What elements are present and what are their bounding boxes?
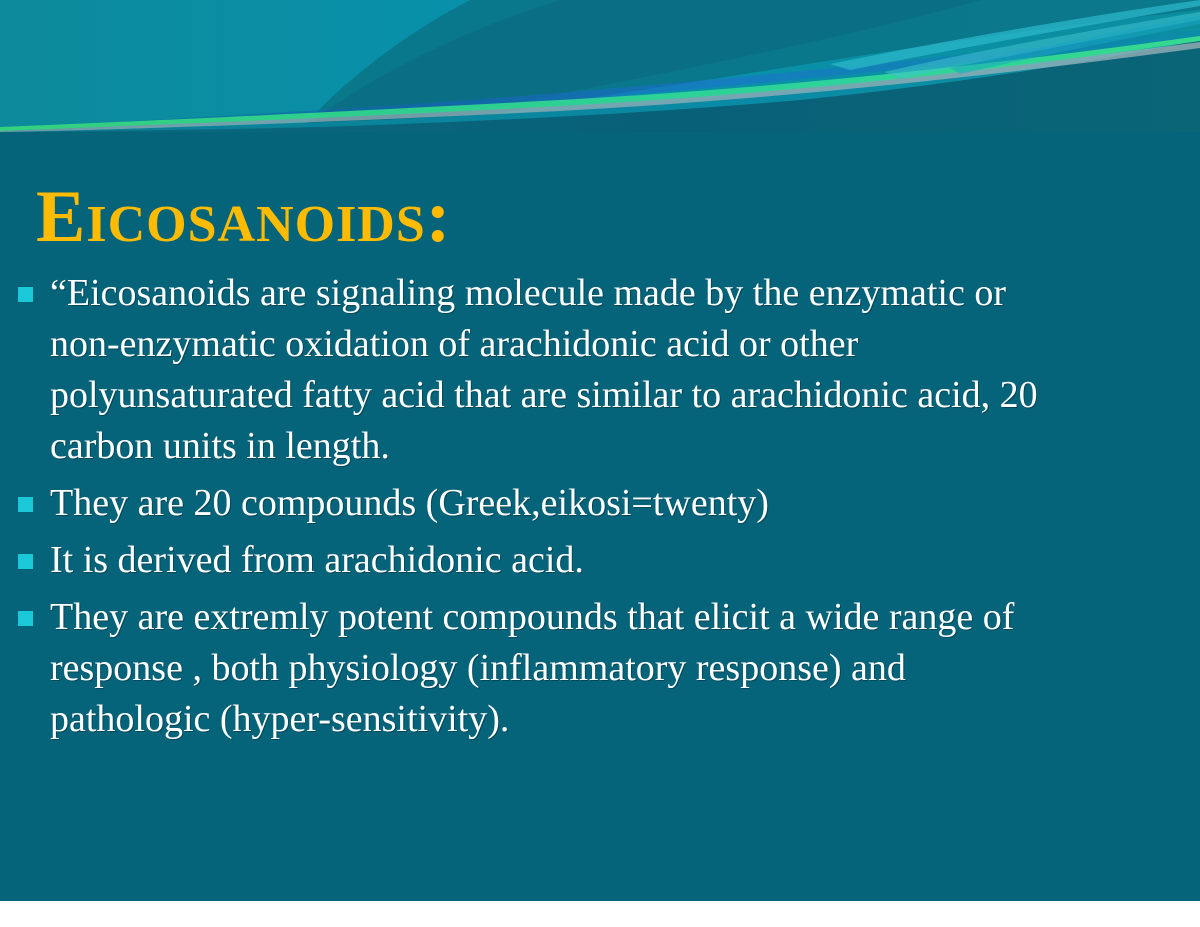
- bullet-item: They are extremly potent compounds that …: [14, 592, 1054, 745]
- presentation-slide: Eicosanoids: “Eicosanoids are signaling …: [0, 0, 1200, 927]
- square-bullet-icon: [18, 287, 33, 302]
- bullet-text: They are extremly potent compounds that …: [50, 592, 1054, 745]
- header-wave-decoration: [0, 0, 1200, 132]
- bullet-item: They are 20 compounds (Greek,eikosi=twen…: [14, 478, 1054, 529]
- bullet-text: They are 20 compounds (Greek,eikosi=twen…: [50, 478, 1054, 529]
- bullet-item: “Eicosanoids are signaling molecule made…: [14, 268, 1054, 472]
- square-bullet-icon: [18, 554, 33, 569]
- slide-title: Eicosanoids:: [36, 178, 451, 256]
- bullet-text: It is derived from arachidonic acid.: [50, 535, 1054, 586]
- bullet-item: It is derived from arachidonic acid.: [14, 535, 1054, 586]
- bullet-text: “Eicosanoids are signaling molecule made…: [50, 268, 1054, 472]
- slide-bullet-list: “Eicosanoids are signaling molecule made…: [14, 268, 1054, 751]
- slide-bottom-strip: [0, 901, 1200, 927]
- square-bullet-icon: [18, 611, 33, 626]
- square-bullet-icon: [18, 497, 33, 512]
